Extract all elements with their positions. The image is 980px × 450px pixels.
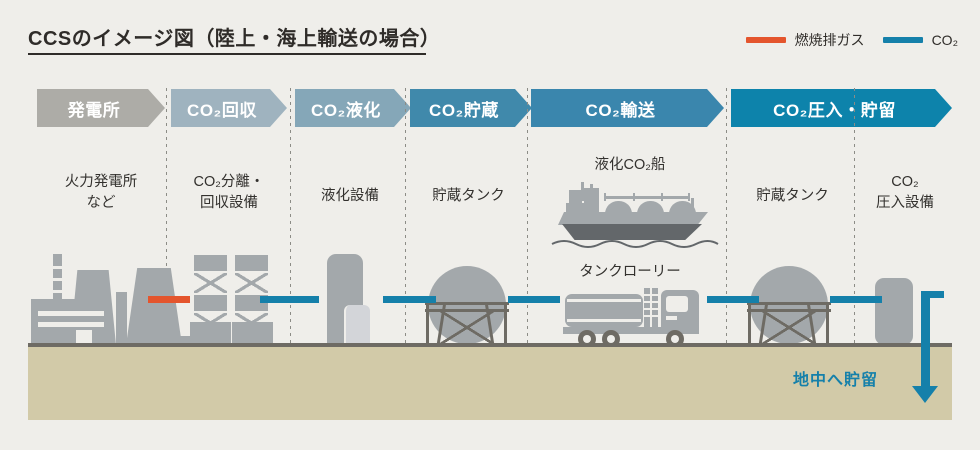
smokestack-band [53, 278, 62, 281]
exhaust-gas-pipe [148, 296, 190, 303]
underground-storage-label: 地中へ貯留 [793, 366, 878, 390]
stage-banner-co2-storage: CO₂貯蔵 [410, 89, 532, 127]
ship-bridge-icon [584, 188, 599, 213]
ship-bridge-icon [566, 203, 586, 213]
ship-rail-post [604, 193, 606, 201]
lorry-cab-window [666, 296, 688, 312]
column-divider [854, 88, 855, 345]
sphere-support-frame [747, 302, 831, 345]
wheel-hub [607, 335, 615, 343]
capture-tower-brace [194, 273, 227, 293]
stage-banner-label: 発電所 [68, 96, 135, 121]
stage-banner-co2-capture: CO₂回収 [171, 89, 287, 127]
caption-line: CO₂分離・ [171, 172, 287, 193]
page-title: CCSのイメージ図（陸上・海上輸送の場合） [28, 22, 440, 51]
co2-pipe-storage-to-transport [508, 296, 560, 303]
plant-building-band [38, 311, 104, 316]
line-swatch-icon [746, 37, 786, 43]
co2-pipe-transport-to-injection [707, 296, 759, 303]
co2-downpipe-vertical [921, 291, 930, 388]
caption-line: 液化CO₂船 [540, 155, 720, 176]
legend-item-exhaust: 燃焼排ガス [746, 30, 865, 50]
caption-thermal-plant: 火力発電所 など [37, 172, 165, 214]
caption-line: 回収設備 [171, 193, 287, 214]
caption-line: タンクローリー [540, 262, 720, 283]
stage-banner-label: CO₂貯蔵 [429, 96, 513, 121]
caption-injection-facility: CO₂ 圧入設備 [858, 172, 952, 214]
caption-line: 貯蔵タンク [410, 186, 527, 207]
injection-unit-icon [875, 278, 913, 345]
lorry-tank-stripe [567, 299, 641, 302]
ladder-rung [650, 288, 652, 328]
capture-tower-icon [194, 255, 227, 271]
plant-stack-icon [116, 292, 127, 345]
stage-banner-label: CO₂回収 [187, 96, 271, 121]
caption-line: 圧入設備 [858, 193, 952, 214]
stage-banner-co2-injection: CO₂圧入・貯留 [731, 89, 952, 127]
caption-line: など [37, 193, 165, 214]
caption-tank-lorry: タンクローリー [540, 262, 720, 283]
capture-tower-icon [235, 255, 268, 271]
title-underline [28, 53, 426, 55]
caption-liquefaction: 液化設備 [295, 186, 405, 207]
caption-line: 貯蔵タンク [731, 186, 854, 207]
caption-storage-tank-1: 貯蔵タンク [410, 186, 527, 207]
capture-tower-icon [194, 295, 227, 311]
lorry-tank-stripe [567, 319, 641, 322]
stage-banner-power-plant: 発電所 [37, 89, 165, 127]
co2-pipe-capture-to-liquefaction [260, 296, 319, 303]
stage-banner-co2-liquefaction: CO₂液化 [295, 89, 411, 127]
legend-item-co2: CO₂ [883, 32, 958, 48]
caption-ship: 液化CO₂船 [540, 155, 720, 176]
ship-bridge-icon [569, 190, 582, 203]
ship-rail-post [633, 193, 635, 201]
line-swatch-icon [883, 37, 923, 43]
ccs-diagram: CCSのイメージ図（陸上・海上輸送の場合） 燃焼排ガス CO₂ 発電所 CO₂回… [0, 0, 980, 450]
column-divider [290, 88, 291, 345]
capture-tower-base [190, 322, 231, 345]
caption-co2-capture: CO₂分離・ 回収設備 [171, 172, 287, 214]
caption-line: CO₂ [858, 172, 952, 193]
co2-down-arrow-icon [912, 386, 938, 403]
legend-label-co2: CO₂ [932, 32, 958, 48]
capture-tower-base [232, 322, 273, 345]
sphere-support-frame [425, 302, 509, 345]
wheel-hub [583, 335, 591, 343]
column-divider [726, 88, 727, 345]
water-waves-icon [550, 238, 720, 250]
smokestack-band [53, 266, 62, 269]
legend: 燃焼排ガス CO₂ [746, 30, 958, 50]
liquefaction-tank-small-icon [344, 305, 370, 345]
capture-tower-brace [235, 273, 268, 293]
stage-banner-label: CO₂圧入・貯留 [773, 96, 910, 121]
ship-rail-post [661, 193, 663, 201]
ship-deck-rail [604, 196, 690, 199]
lorry-cab-detail [666, 316, 677, 320]
ship-rail-post [688, 193, 690, 201]
column-divider [527, 88, 528, 345]
stage-banner-co2-transport: CO₂輸送 [531, 89, 724, 127]
caption-line: 火力発電所 [37, 172, 165, 193]
cooling-tower-icon [126, 268, 182, 345]
stage-banner-label: CO₂液化 [311, 96, 395, 121]
smokestack-band [53, 290, 62, 293]
caption-storage-tank-2: 貯蔵タンク [731, 186, 854, 207]
legend-label-exhaust: 燃焼排ガス [795, 30, 865, 50]
co2-pipe-liquefaction-to-storage [383, 296, 436, 303]
ship-hull-upper [558, 212, 708, 225]
stage-banner-label: CO₂輸送 [585, 96, 669, 121]
co2-pipe-to-injection-unit [830, 296, 882, 303]
wheel-hub [671, 335, 679, 343]
caption-line: 液化設備 [295, 186, 405, 207]
plant-building-band [38, 322, 104, 327]
column-divider [405, 88, 406, 345]
